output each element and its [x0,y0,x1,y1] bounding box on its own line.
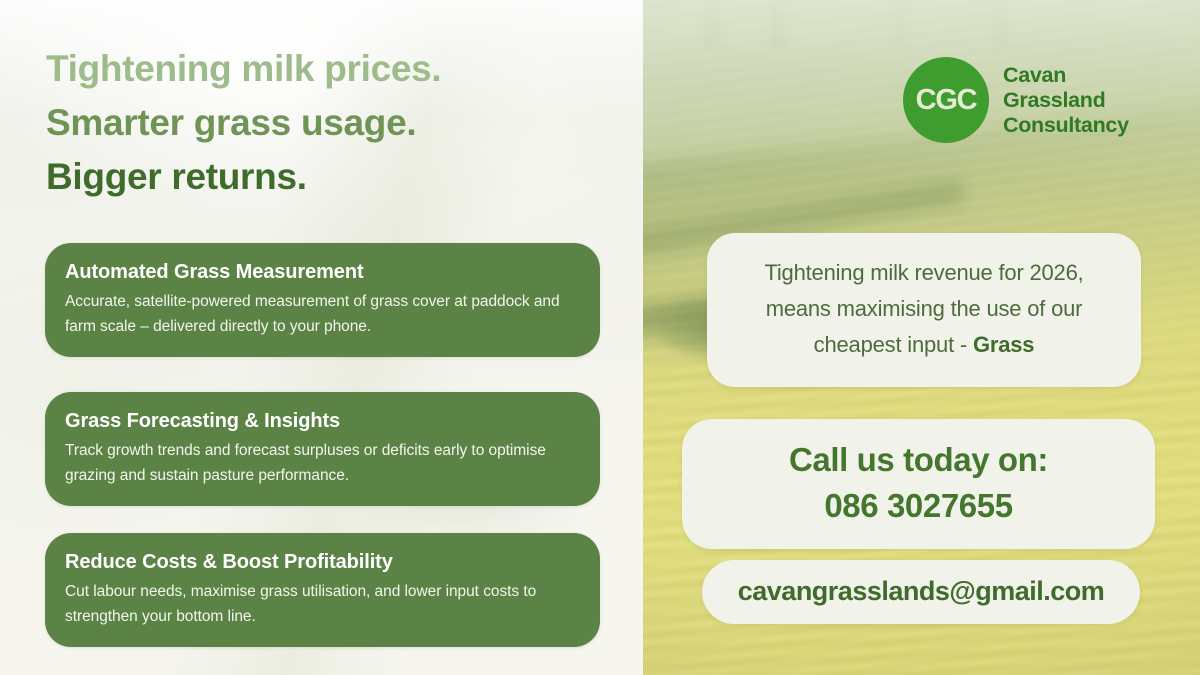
logo-word-grassland: Grassland [1003,88,1129,113]
logo-word-consultancy: Consultancy [1003,113,1129,138]
message-text: Tightening milk revenue for 2026, means … [729,255,1119,363]
feature-card: Automated Grass Measurement Accurate, sa… [45,243,600,357]
feature-description: Cut labour needs, maximise grass utilisa… [65,579,580,629]
message-card: Tightening milk revenue for 2026, means … [707,233,1141,387]
feature-card: Reduce Costs & Boost Profitability Cut l… [45,533,600,647]
message-emphasis: Grass [973,332,1034,357]
call-to-action-card[interactable]: Call us today on: 086 3027655 [682,419,1155,549]
feature-title: Grass Forecasting & Insights [65,408,580,434]
email-card[interactable]: cavangrasslands@gmail.com [702,560,1140,624]
headline-line-2: Smarter grass usage. [46,96,606,150]
feature-title: Automated Grass Measurement [65,259,580,285]
logo-wordmark: Cavan Grassland Consultancy [1003,63,1129,138]
cgc-circle-icon: CGC [903,57,989,143]
message-text-body: Tightening milk revenue for 2026, means … [764,260,1083,357]
call-prompt: Call us today on: [702,437,1135,483]
feature-card: Grass Forecasting & Insights Track growt… [45,392,600,506]
headline-line-1: Tightening milk prices. [46,42,606,96]
company-logo: CGC Cavan Grassland Consultancy [903,57,1129,143]
headline: Tightening milk prices. Smarter grass us… [46,42,606,204]
logo-word-cavan: Cavan [1003,63,1129,88]
promotional-poster: Tightening milk prices. Smarter grass us… [0,0,1200,675]
logo-monogram: CGC [916,84,977,117]
feature-title: Reduce Costs & Boost Profitability [65,549,580,575]
feature-description: Accurate, satellite-powered measurement … [65,289,580,339]
feature-description: Track growth trends and forecast surplus… [65,438,580,488]
headline-line-3: Bigger returns. [46,150,606,204]
email-address[interactable]: cavangrasslands@gmail.com [720,573,1122,609]
phone-number[interactable]: 086 3027655 [702,483,1135,529]
